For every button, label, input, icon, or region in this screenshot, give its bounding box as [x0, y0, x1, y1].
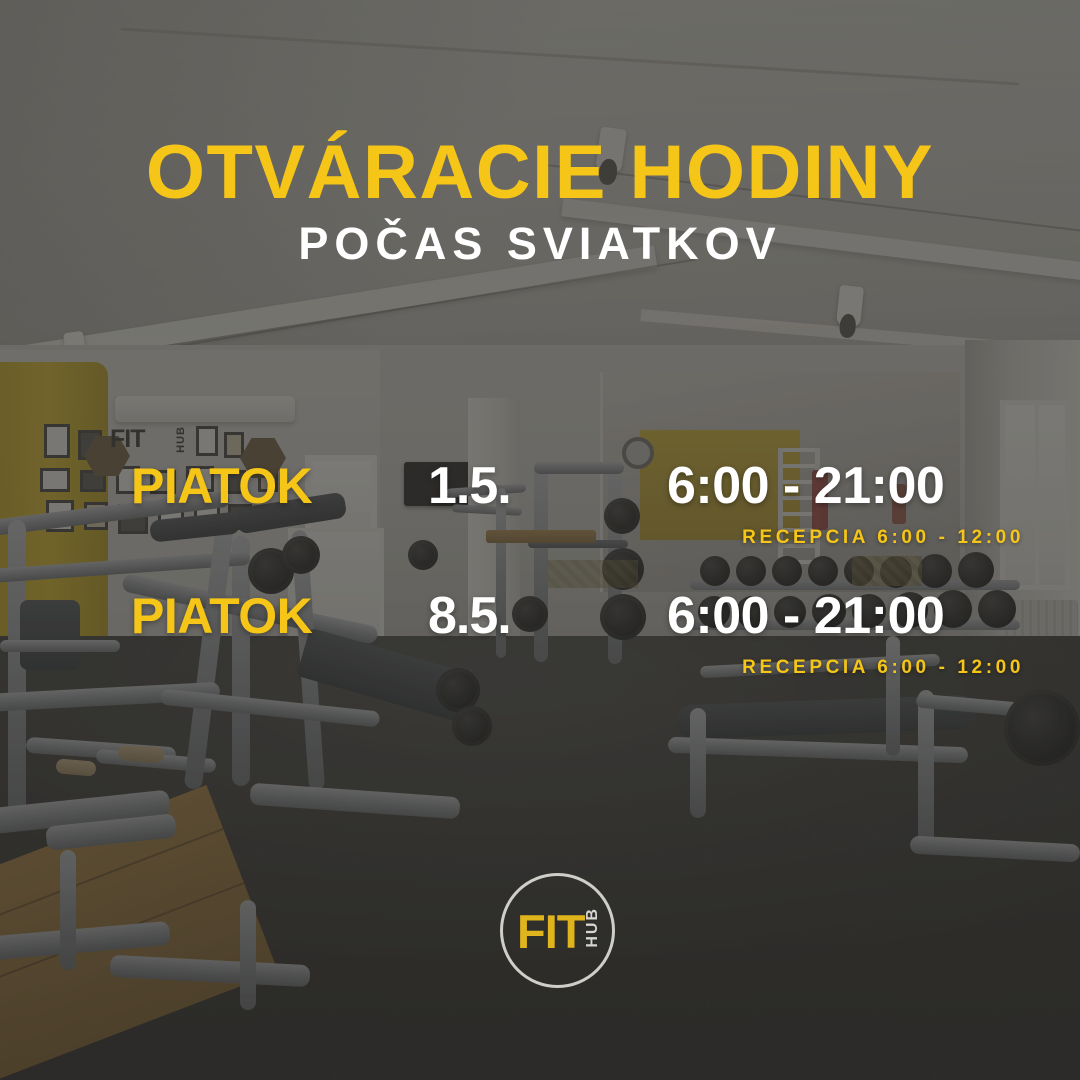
schedule-reception: RECEPCIA 6:00 - 12:00: [742, 657, 1024, 679]
schedule-list: PIATOK 1.5. 6:00 - 21:00 RECEPCIA 6:00 -…: [0, 455, 1080, 715]
fithub-logo: FIT HUB: [500, 873, 615, 988]
schedule-date: 1.5.: [428, 455, 511, 517]
schedule-day: PIATOK: [131, 585, 312, 647]
schedule-row: PIATOK 8.5. 6:00 - 21:00 RECEPCIA 6:00 -…: [0, 585, 1080, 715]
schedule-day: PIATOK: [131, 455, 312, 517]
page-subtitle: POČAS SVIATKOV: [0, 219, 1080, 269]
opening-hours-poster: FIT HUB: [0, 0, 1080, 1080]
logo-fit-text: FIT: [517, 908, 584, 955]
schedule-date: 8.5.: [428, 585, 511, 647]
schedule-row: PIATOK 1.5. 6:00 - 21:00 RECEPCIA 6:00 -…: [0, 455, 1080, 585]
schedule-hours: 6:00 - 21:00: [667, 585, 944, 647]
schedule-reception: RECEPCIA 6:00 - 12:00: [742, 527, 1024, 549]
poster-content: OTVÁRACIE HODINY POČAS SVIATKOV PIATOK 1…: [0, 0, 1080, 1080]
page-title: OTVÁRACIE HODINY: [0, 133, 1080, 213]
schedule-hours: 6:00 - 21:00: [667, 455, 944, 517]
logo-hub-text: HUB: [584, 907, 602, 948]
